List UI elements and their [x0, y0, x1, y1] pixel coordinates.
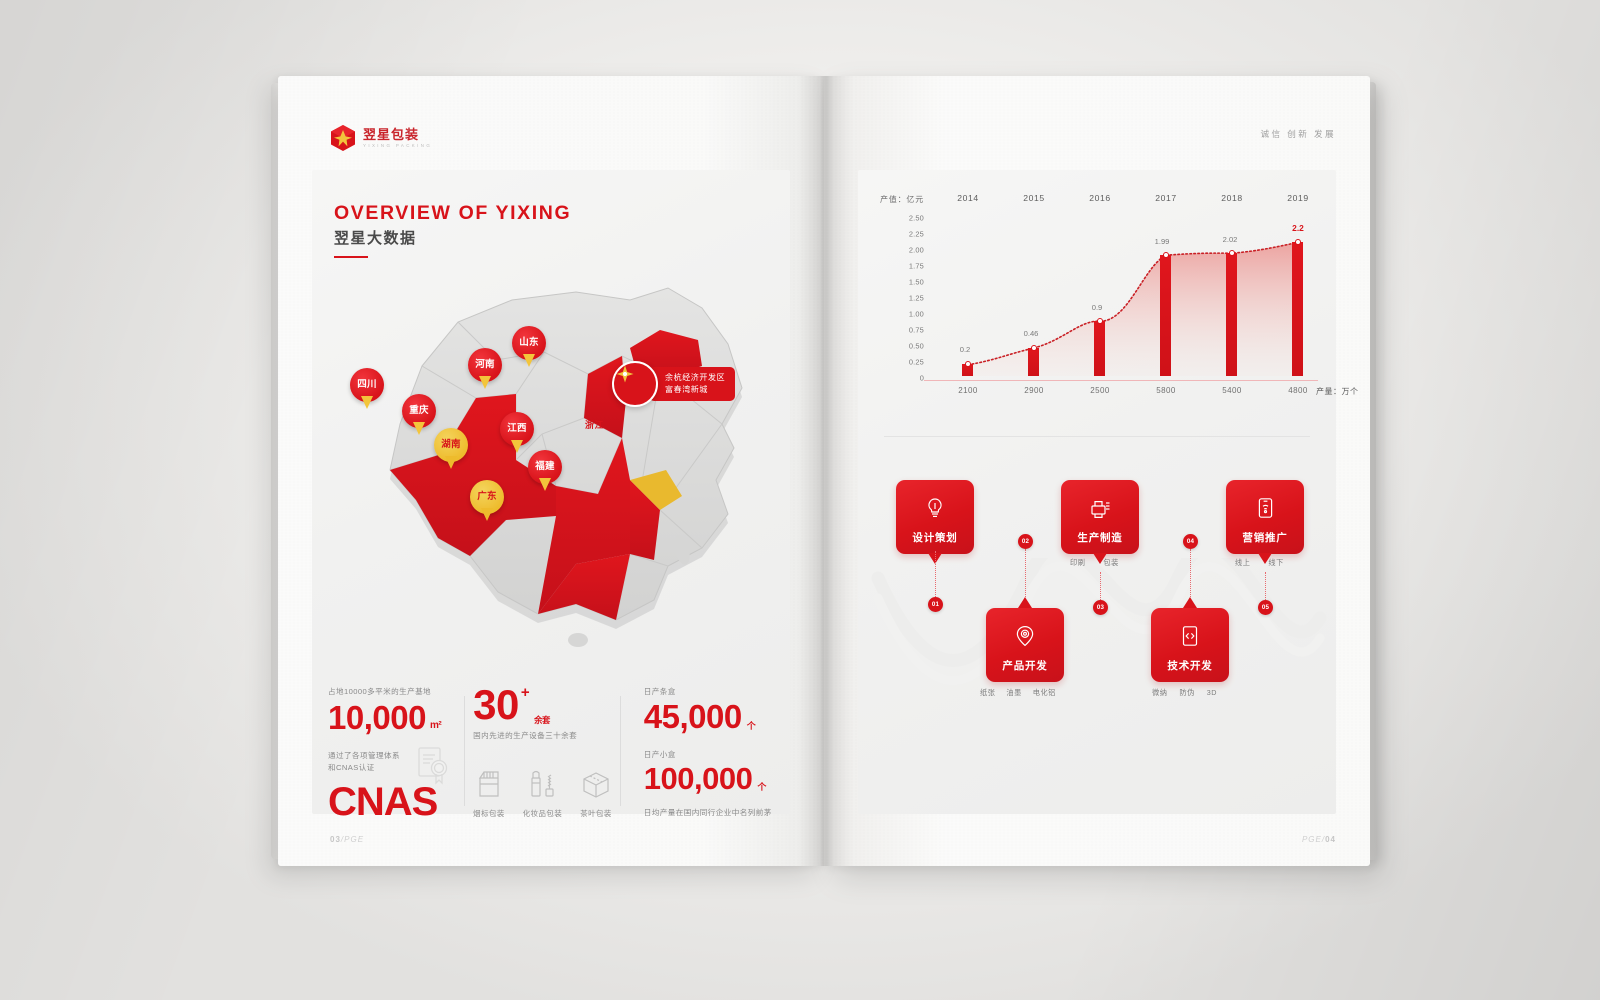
chart-year-labels: 2014 2015 2016 2017 2018 2019 [930, 193, 1312, 207]
chart-year-label: 2018 [1221, 193, 1243, 203]
map-pin-henan[interactable]: 河南 [468, 348, 502, 390]
chart-trend-area [930, 224, 1312, 376]
area-stat: 10,000 m² [328, 701, 441, 734]
chart-year-label: 2015 [1023, 193, 1045, 203]
flow-card-subs-marketing: 线上 线下 [1235, 558, 1284, 568]
production-value-chart[interactable]: 产值：亿元 2014 2015 2016 2017 2018 2019 2.50… [858, 188, 1336, 418]
daily-strip-note: 日产条盒 [644, 686, 774, 698]
pin-tail-icon [445, 456, 457, 469]
flow-sub-label: 防伪 [1179, 688, 1194, 698]
chart-output-label: 2500 [1090, 386, 1109, 395]
flow-step-badge: 04 [1183, 534, 1198, 549]
certificate-icon [415, 746, 451, 791]
pin-tail-icon [523, 354, 535, 367]
map-pin-label: 山东 [519, 338, 539, 348]
chart-plot-area: 0.2 0.46 0.9 1.99 2.02 2.2 [930, 224, 1312, 376]
header-slogan: 诚信 创新 发展 [1260, 128, 1336, 140]
pin-tail-icon [413, 422, 425, 435]
packaging-type-label: 化妆品包装 [523, 808, 562, 819]
chart-point [1163, 252, 1169, 258]
flow-sub-label: 微纳 [1152, 688, 1167, 698]
chart-y-tick: 2.50 [909, 214, 924, 223]
chart-y-tick: 1.00 [909, 310, 924, 319]
map-pin-chongqing[interactable]: 重庆 [402, 394, 436, 436]
pin-tail-icon [361, 396, 373, 409]
equipment-stat: 30 + 余套 [473, 684, 612, 726]
page-title-en: OVERVIEW OF YIXING [334, 202, 571, 225]
china-map[interactable]: 四川 重庆 湖南 广东 河南 [330, 248, 772, 678]
flow-step-badge: 01 [928, 597, 943, 612]
equipment-unit: 余套 [534, 716, 550, 724]
map-pin-shandong[interactable]: 山东 [512, 326, 546, 368]
flow-card-label: 产品开发 [1002, 658, 1047, 673]
daily-strip-stat: 45,000 个 [644, 700, 774, 733]
pin-tail-icon [479, 376, 491, 389]
flow-card-subs-manufacturing: 印刷 包装 [1070, 558, 1119, 568]
page-number-left-suffix: /PGE [341, 835, 364, 844]
area-note: 占地10000多平米的生产基地 [328, 686, 441, 698]
chart-y-tick: 1.25 [909, 294, 924, 303]
stat-col-area: 占地10000多平米的生产基地 10,000 m² 通过了各项管理体系 和CNA… [312, 686, 457, 814]
chart-y-tick: 1.75 [909, 262, 924, 271]
equipment-value: 30 [473, 684, 519, 726]
page-number-right: PGE/04 [1302, 835, 1336, 844]
chart-bar[interactable] [1094, 321, 1105, 376]
flow-card-subs-product: 纸张 油墨 电化铝 [980, 688, 1056, 698]
area-unit: m² [430, 721, 441, 731]
chart-output-label: 5400 [1222, 386, 1241, 395]
flow-connector [1100, 572, 1101, 602]
cigarette-pack-icon [476, 768, 502, 803]
lightbulb-icon [925, 497, 945, 524]
page-number-right-suffix: 04 [1325, 835, 1336, 844]
map-pin-label: 广东 [477, 492, 497, 502]
left-page: 翌星包装 YIXING PACKING OVERVIEW OF YIXING 翌… [278, 76, 824, 866]
packaging-type-row: 烟标包装 [473, 768, 612, 819]
chart-x-axis [924, 380, 1318, 381]
flow-sub-label: 线下 [1268, 558, 1283, 568]
chart-year-label: 2014 [957, 193, 979, 203]
chart-value-label: 0.9 [1092, 303, 1103, 312]
chart-value-label-highlight: 2.2 [1292, 223, 1304, 233]
chart-y-tick: 0.25 [909, 358, 924, 367]
stat-col-equipment: 30 + 余套 国内先进的生产设备三十余套 [457, 686, 628, 814]
daily-strip-value: 45,000 [644, 700, 742, 733]
flow-step-number: 01 [932, 601, 939, 608]
chart-year-label: 2017 [1155, 193, 1177, 203]
chart-point [1097, 318, 1103, 324]
packaging-type-cigarette: 烟标包装 [473, 768, 505, 819]
chart-value-label: 0.46 [1024, 329, 1039, 338]
chart-bar[interactable] [1292, 242, 1303, 376]
daily-strip-unit: 个 [747, 722, 756, 731]
flow-card-marketing[interactable]: 营销推广 [1226, 480, 1304, 554]
page-number-left: 03/PGE [330, 835, 364, 844]
map-pin-guangdong[interactable]: 广东 [470, 480, 504, 522]
page-title-cn: 翌星大数据 [334, 227, 417, 248]
lipstick-mascara-icon [527, 768, 557, 803]
logo-text-en: YIXING PACKING [363, 144, 432, 148]
flow-step-number: 05 [1262, 604, 1269, 611]
chart-output-label: 4800 [1288, 386, 1307, 395]
flow-step-badge: 02 [1018, 534, 1033, 549]
flow-card-product[interactable]: 产品开发 [986, 608, 1064, 682]
pin-tail-icon [539, 478, 551, 491]
hq-label: 余杭经济开发区 富春湾新城 [649, 367, 735, 401]
packaging-type-tea: 茶叶包装 [580, 770, 612, 819]
map-pin-label: 福建 [535, 462, 555, 472]
box-icon [581, 770, 611, 803]
chart-y-tick: 1.50 [909, 278, 924, 287]
flow-connector [1190, 549, 1191, 597]
brand-logo[interactable]: 翌星包装 YIXING PACKING [330, 124, 432, 152]
page-number-left-prefix: 03 [330, 835, 341, 844]
stats-divider-2 [620, 696, 621, 806]
map-pin-jiangxi[interactable]: 江西 [500, 412, 534, 454]
flow-step-number: 03 [1097, 604, 1104, 611]
chart-value-label: 2.02 [1223, 235, 1238, 244]
daily-small-value: 100,000 [644, 763, 753, 794]
map-pin-hunan[interactable]: 湖南 [434, 428, 468, 470]
flow-card-label: 技术开发 [1167, 658, 1212, 673]
flow-step-number: 02 [1022, 538, 1029, 545]
flow-connector [1025, 549, 1026, 597]
hq-star-icon [612, 361, 658, 407]
chart-bar[interactable] [1226, 253, 1237, 376]
hq-label-line1: 余杭经济开发区 [665, 373, 725, 383]
chart-year-label: 2019 [1287, 193, 1309, 203]
map-pin-label: 重庆 [409, 406, 429, 416]
chart-point [1295, 239, 1301, 245]
hq-label-line2: 富春湾新城 [665, 385, 725, 395]
equipment-sup: + [521, 685, 529, 700]
chart-y-tick: 0.50 [909, 342, 924, 351]
area-value: 10,000 [328, 701, 426, 734]
flow-sub-label: 纸张 [980, 688, 995, 698]
chart-value-label: 0.2 [960, 345, 971, 354]
left-content-panel: OVERVIEW OF YIXING 翌星大数据 [312, 170, 790, 814]
printer-icon [1089, 499, 1111, 524]
book-left-edge [271, 83, 278, 859]
chart-x-axis-label: 产量：万个 [1316, 386, 1359, 397]
packaging-type-label: 烟标包装 [473, 808, 505, 819]
flow-step-badge: 03 [1093, 600, 1108, 615]
flow-step-badge: 05 [1258, 600, 1273, 615]
flow-card-label: 营销推广 [1242, 530, 1287, 545]
chart-output-label: 5800 [1156, 386, 1175, 395]
chart-bar[interactable] [1160, 255, 1171, 376]
packaging-type-label: 茶叶包装 [580, 808, 612, 819]
chart-point [1031, 345, 1037, 351]
pin-tail-icon [511, 440, 523, 453]
pin-tail-icon [481, 508, 493, 521]
flow-step-number: 04 [1187, 538, 1194, 545]
flow-card-design[interactable]: 设计策划 [896, 480, 974, 554]
stats-band: 占地10000多平米的生产基地 10,000 m² 通过了各项管理体系 和CNA… [312, 686, 790, 814]
chart-y-tick: 2.25 [909, 230, 924, 239]
chart-y-axis-label: 产值：亿元 [880, 194, 924, 205]
flow-card-label: 生产制造 [1077, 530, 1122, 545]
chart-bar[interactable] [1028, 348, 1039, 376]
flow-sub-label: 油墨 [1006, 688, 1021, 698]
flow-sub-label: 电化铝 [1033, 688, 1056, 698]
chart-y-ticks: 2.50 2.25 2.00 1.75 1.50 1.25 1.00 0.75 … [880, 218, 924, 380]
flow-card-subs-technology: 微纳 防伪 3D [1152, 688, 1217, 698]
flow-connector [935, 551, 936, 599]
map-pin-fujian[interactable]: 福建 [528, 450, 562, 492]
brochure-spread: 翌星包装 YIXING PACKING OVERVIEW OF YIXING 翌… [278, 76, 1370, 866]
flow-sub-label: 包装 [1103, 558, 1118, 568]
chart-year-label: 2016 [1089, 193, 1111, 203]
equipment-note: 国内先进的生产设备三十余套 [473, 730, 612, 742]
right-content-panel: 产值：亿元 2014 2015 2016 2017 2018 2019 2.50… [858, 170, 1336, 814]
code-file-icon [1180, 625, 1200, 652]
flow-card-pointer-icon [1018, 597, 1032, 608]
flow-card-manufacturing[interactable]: 生产制造 [1061, 480, 1139, 554]
process-flow-diagram: 设计策划 01 产品开发 [858, 466, 1336, 796]
stat-col-output: 日产条盒 45,000 个 日产小盒 100,000 个 日均产量在国内同行企业… [628, 686, 790, 814]
chart-output-label: 2900 [1024, 386, 1043, 395]
map-pin-label: 河南 [475, 360, 495, 370]
flow-card-pointer-icon [1183, 597, 1197, 608]
flow-sub-label: 3D [1207, 688, 1217, 698]
hexagon-star-logo-icon [330, 124, 356, 152]
chart-output-labels: 2100 2900 2500 5800 5400 4800 [930, 386, 1312, 400]
map-pin-label: 四川 [357, 380, 377, 390]
chart-y-tick: 2.00 [909, 246, 924, 255]
mobile-phone-icon [1256, 497, 1275, 524]
hq-marker[interactable]: 余杭经济开发区 富春湾新城 [612, 361, 735, 407]
output-footnote: 日均产量在国内同行企业中名列前茅 [644, 807, 774, 819]
map-pin-label: 湖南 [441, 440, 461, 450]
section-divider [884, 436, 1310, 437]
map-pin-sichuan[interactable]: 四川 [350, 368, 384, 410]
packaging-type-cosmetics: 化妆品包装 [523, 768, 562, 819]
right-page: 诚信 创新 发展 产值：亿元 2014 2015 2016 2017 2018 … [824, 76, 1370, 866]
flow-card-label: 设计策划 [912, 530, 957, 545]
flow-sub-label: 线上 [1235, 558, 1250, 568]
daily-small-unit: 个 [757, 783, 766, 792]
map-pin-label: 江西 [507, 424, 527, 434]
chart-output-label: 2100 [958, 386, 977, 395]
daily-small-stat: 100,000 个 [644, 763, 774, 794]
chart-point [1229, 250, 1235, 256]
chart-point [965, 361, 971, 367]
logo-text-cn: 翌星包装 [363, 128, 432, 141]
daily-small-note: 日产小盒 [644, 749, 774, 761]
chart-value-label: 1.99 [1155, 237, 1170, 246]
chart-y-tick: 0.75 [909, 326, 924, 335]
location-pin-icon [1015, 625, 1035, 652]
flow-card-technology[interactable]: 技术开发 [1151, 608, 1229, 682]
flow-connector [1265, 572, 1266, 602]
flow-sub-label: 印刷 [1070, 558, 1085, 568]
page-number-right-prefix: PGE/ [1302, 835, 1325, 844]
province-label-zhejiang: 浙江 [585, 418, 604, 431]
